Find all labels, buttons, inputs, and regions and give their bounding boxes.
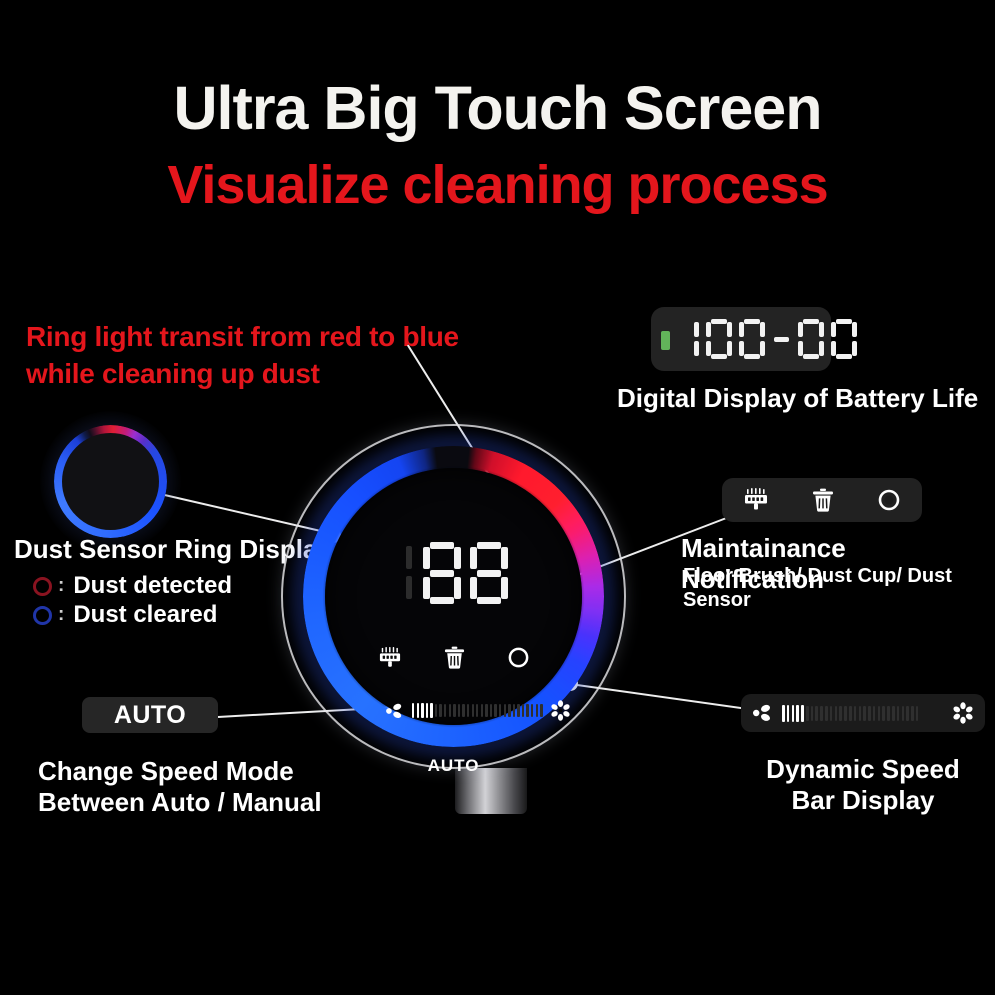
battery-separator <box>774 337 789 342</box>
dust-cleared-ring-icon <box>33 606 52 625</box>
device-auto-label: AUTO <box>325 756 582 776</box>
dust-sensor-ring-graphic <box>54 425 167 538</box>
floor-brush-icon[interactable] <box>378 647 402 669</box>
seven-segment-digit <box>798 319 824 359</box>
legend-item-dust-detected: : Dust detected <box>33 572 232 600</box>
battery-digits <box>677 319 857 359</box>
auto-mode-badge[interactable]: AUTO <box>82 697 218 733</box>
flower-icon <box>550 700 571 721</box>
legend-label: Dust detected <box>73 572 232 600</box>
legend-colon: : <box>58 575 64 597</box>
device-speed-bar-track <box>412 703 543 718</box>
legend-item-dust-cleared: : Dust cleared <box>33 601 217 629</box>
seven-segment-digit <box>423 542 461 604</box>
dust-detected-ring-icon <box>33 577 52 596</box>
dust-cup-icon <box>812 488 834 512</box>
maintenance-subcaption: Floor Brush/ Dust Cup/ Dust Sensor <box>683 565 995 612</box>
speed-mode-caption: Change Speed Mode Between Auto / Manual <box>38 756 322 817</box>
ring-light-callout: Ring light transit from red to blue whil… <box>26 318 459 392</box>
seven-segment-digit <box>677 319 699 359</box>
ring-light-callout-line2: while cleaning up dust <box>26 355 459 392</box>
device-speed-bar[interactable] <box>385 700 522 721</box>
device-digits <box>325 542 582 604</box>
page-title: Ultra Big Touch Screen <box>0 78 995 139</box>
fan-icon <box>752 704 774 722</box>
speed-mode-caption-line2: Between Auto / Manual <box>38 787 322 818</box>
seven-segment-digit <box>706 319 732 359</box>
speed-bar-caption: Dynamic Speed Bar Display <box>741 754 985 815</box>
battery-caption: Digital Display of Battery Life <box>617 383 978 414</box>
device-screen[interactable]: AUTO <box>281 424 626 769</box>
legend-colon: : <box>58 604 64 626</box>
page-subtitle: Visualize cleaning process <box>0 158 995 212</box>
maintenance-notification-module <box>722 478 922 522</box>
battery-level-icon <box>661 331 670 350</box>
dust-sensor-icon <box>877 488 901 512</box>
dust-sensor-icon[interactable] <box>507 646 530 669</box>
device-face: AUTO <box>325 468 582 725</box>
ring-light-callout-line1: Ring light transit from red to blue <box>26 318 459 355</box>
floor-brush-icon <box>743 488 769 512</box>
battery-display-module <box>651 307 831 371</box>
fan-icon <box>385 703 405 719</box>
dust-cup-icon[interactable] <box>444 646 465 669</box>
speed-bar-module <box>741 694 985 732</box>
speed-bar-caption-line2: Bar Display <box>741 785 985 816</box>
flower-icon <box>952 702 974 724</box>
speed-bar-caption-line1: Dynamic Speed <box>741 754 985 785</box>
seven-segment-digit <box>739 319 765 359</box>
speed-bar-track <box>782 705 944 722</box>
infographic-canvas: Ultra Big Touch Screen Visualize cleanin… <box>0 0 995 995</box>
speed-mode-caption-line1: Change Speed Mode <box>38 756 322 787</box>
seven-segment-digit <box>831 319 857 359</box>
dust-sensor-ring-inner <box>62 433 159 530</box>
legend-label: Dust cleared <box>73 601 217 629</box>
seven-segment-digit-leading <box>399 542 411 604</box>
device-maintenance-icons <box>325 646 582 669</box>
seven-segment-digit <box>470 542 508 604</box>
